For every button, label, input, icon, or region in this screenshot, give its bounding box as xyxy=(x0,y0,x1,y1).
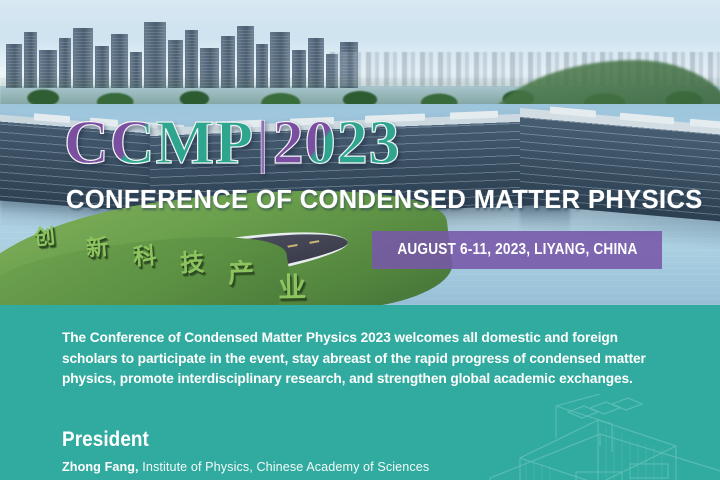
president-heading: President xyxy=(62,428,149,452)
president-details: Zhong Fang, Institute of Physics, Chines… xyxy=(62,460,429,474)
intro-paragraph: The Conference of Condensed Matter Physi… xyxy=(62,328,648,390)
hedge-character: 新 xyxy=(85,229,110,263)
date-location-text: AUGUST 6-11, 2023, LIYANG, CHINA xyxy=(397,241,637,259)
hedge-character: 创 xyxy=(32,220,56,252)
hedge-character: 技 xyxy=(179,242,205,278)
logo-letter: M xyxy=(156,112,216,174)
logo-letter: P xyxy=(215,112,254,174)
building-outline-watermark xyxy=(480,394,720,480)
hedge-character: 业 xyxy=(278,266,307,306)
logo-digit: 2 xyxy=(273,112,305,174)
logo-divider: | xyxy=(254,113,273,171)
hero-photograph: 创 新 科 技 产 业 CCMP|2023 CONFERENCE OF COND… xyxy=(0,0,720,308)
logo-digit: 2 xyxy=(337,112,369,174)
logo-digit: 0 xyxy=(305,112,337,174)
logo-digit: 3 xyxy=(369,112,401,174)
hedge-character: 科 xyxy=(132,236,157,272)
ccmp-logo: CCMP|2023 xyxy=(64,112,401,174)
conference-subtitle: CONFERENCE OF CONDENSED MATTER PHYSICS xyxy=(66,186,703,215)
hedge-character: 产 xyxy=(227,253,254,291)
date-location-banner: AUGUST 6-11, 2023, LIYANG, CHINA xyxy=(372,231,662,269)
logo-letter: C xyxy=(110,112,156,174)
president-name: Zhong Fang, xyxy=(62,460,139,474)
logo-letter: C xyxy=(64,112,110,174)
president-affiliation: Institute of Physics, Chinese Academy of… xyxy=(142,460,429,474)
conference-poster: 创 新 科 技 产 业 CCMP|2023 CONFERENCE OF COND… xyxy=(0,0,720,480)
body-panel: The Conference of Condensed Matter Physi… xyxy=(0,305,720,480)
